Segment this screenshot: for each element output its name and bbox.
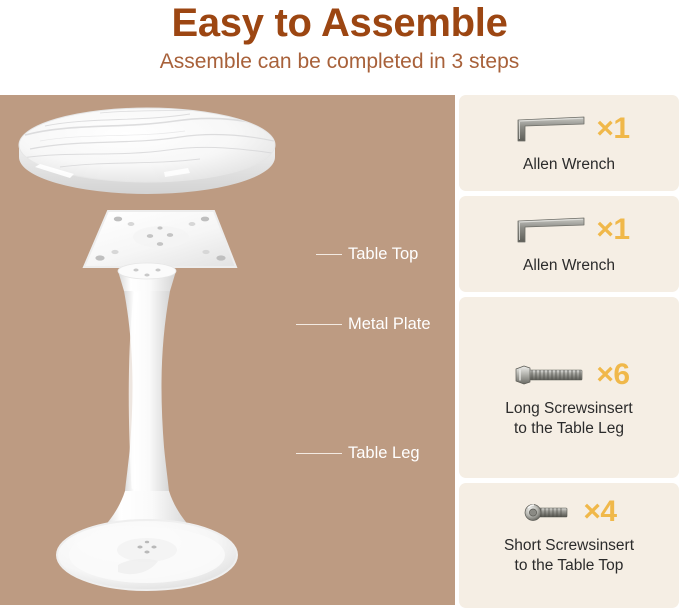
hardware-name-line1: Short Screwsinsert: [459, 527, 679, 556]
hardware-quantity: ×4: [583, 497, 616, 527]
hardware-card-long-screws: ×6 Long Screwsinsert to the Table Leg: [459, 297, 679, 478]
hardware-qty-row: ×4: [459, 497, 679, 527]
page-title: Easy to Assemble: [0, 0, 679, 45]
furniture-parts-illustration: [0, 95, 455, 605]
hardware-qty-row: ×1: [459, 111, 679, 147]
round-marble-tabletop-icon: [19, 108, 275, 194]
leader-line-metal-plate: [296, 324, 342, 325]
allen-wrench-icon: [508, 212, 590, 248]
hardware-card-short-screws: ×4 Short Screwsinsert to the Table Top: [459, 483, 679, 608]
long-screw-icon: [508, 362, 590, 388]
hardware-name: Allen Wrench: [459, 147, 679, 175]
part-label-table-leg: Table Leg: [348, 444, 420, 462]
hardware-quantity: ×1: [596, 215, 629, 245]
hardware-name-line2: to the Table Leg: [459, 419, 679, 439]
hardware-name-line2: to the Table Top: [459, 556, 679, 576]
exploded-assembly-diagram: Table Top Metal Plate Table Leg Pedestal: [0, 95, 455, 605]
page-header: Easy to Assemble Assemble can be complet…: [0, 0, 679, 95]
hardware-card-allen-wrench-1: ×1 Allen Wrench: [459, 95, 679, 191]
hardware-name: Allen Wrench: [459, 248, 679, 276]
tapered-column-leg-icon: [100, 263, 194, 543]
short-screw-icon: [521, 499, 577, 525]
hardware-name-line1: Long Screwsinsert: [459, 390, 679, 419]
page-subtitle: Assemble can be completed in 3 steps: [0, 45, 679, 74]
square-mounting-plate-icon: [84, 211, 236, 267]
hardware-quantity: ×6: [596, 360, 629, 390]
round-pedestal-base-icon: [57, 520, 237, 590]
part-label-metal-plate: Metal Plate: [348, 315, 431, 333]
hardware-qty-row: ×6: [459, 360, 679, 390]
hardware-quantity: ×1: [596, 114, 629, 144]
part-label-table-top: Table Top: [348, 245, 418, 263]
hardware-qty-row: ×1: [459, 212, 679, 248]
leader-line-table-leg: [296, 453, 342, 454]
leader-line-table-top: [316, 254, 342, 255]
hardware-card-allen-wrench-2: ×1 Allen Wrench: [459, 196, 679, 292]
hardware-parts-list: ×1 Allen Wrench ×1 Allen Wrench: [459, 95, 679, 608]
allen-wrench-icon: [508, 111, 590, 147]
